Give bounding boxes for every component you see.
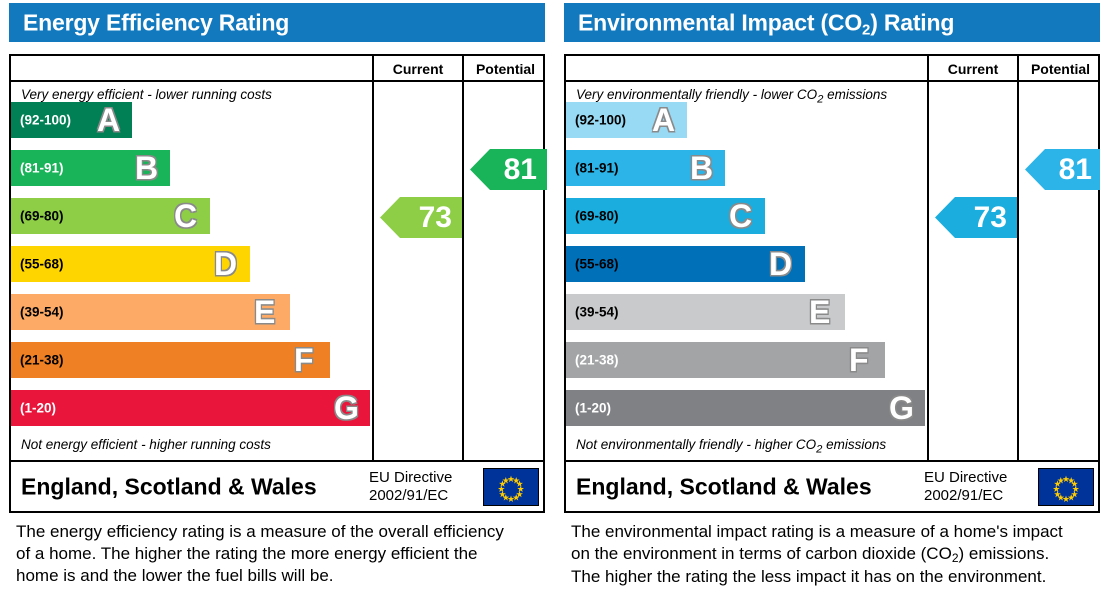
band-letter-f-environmental: F [849,344,869,376]
band-letter-a-environmental: A [652,104,675,136]
footer-directive-line2-environmental: 2002/91/EC [924,487,1007,505]
band-letter-e-energy: E [254,296,275,328]
current-rating-arrow-energy: 73 [380,197,462,238]
eu-flag-icon-environmental [1038,468,1094,506]
band-letter-d-energy: D [214,248,237,280]
footer-country-energy: England, Scotland & Wales [21,473,317,500]
band-range-a-energy: (92-100) [20,113,71,128]
panel-title-bar-environmental: Environmental Impact (CO2) Rating [564,3,1100,42]
band-range-c-environmental: (69-80) [575,209,619,224]
band-range-f-environmental: (21-38) [575,353,619,368]
caption-top-environmental-suffix: emissions [823,87,887,102]
potential-rating-arrow-energy: 81 [470,149,547,190]
column-header-potential-environmental: Potential [1019,56,1100,82]
band-range-a-environmental: (92-100) [575,113,626,128]
potential-rating-value-energy: 81 [504,155,537,185]
energy-rating-table: Current Potential Very energy efficient … [9,54,545,513]
band-bar-g-environmental [566,390,925,426]
caption-bottom-environmental-prefix: Not environmentally friendly - higher CO [576,437,816,452]
band-range-e-energy: (39-54) [20,305,64,320]
page-title-environmental-suffix: ) Rating [870,9,954,35]
band-range-b-energy: (81-91) [20,161,64,176]
band-letter-c-environmental: C [729,200,752,232]
band-letter-c-energy: C [174,200,197,232]
band-bar-g-energy [11,390,370,426]
band-letter-d-environmental: D [769,248,792,280]
page-title-energy: Energy Efficiency Rating [23,9,289,36]
environmental-rating-table: Current Potential Very environmentally f… [564,54,1100,513]
potential-rating-arrow-environmental: 81 [1025,149,1100,190]
band-range-d-energy: (55-68) [20,257,64,272]
footer-directive-line1-energy: EU Directive [369,469,452,487]
caption-bottom-environmental-suffix: emissions [822,437,886,452]
column-header-potential-energy: Potential [464,56,547,82]
column-divider-1-energy [372,56,374,460]
energy-efficiency-panel: Energy Efficiency Rating Current Potenti… [0,0,545,616]
potential-rating-value-environmental: 81 [1059,155,1092,185]
footer-directive-line1-environmental: EU Directive [924,469,1007,487]
footer-directive-line2-energy: 2002/91/EC [369,487,452,505]
band-letter-g-environmental: G [889,392,914,424]
column-divider-1-environmental [927,56,929,460]
environmental-impact-panel: Environmental Impact (CO2) Rating Curren… [555,0,1100,616]
footer-country-environmental: England, Scotland & Wales [576,473,872,500]
footer-directive-environmental: EU Directive 2002/91/EC [924,469,1007,505]
caption-top-environmental-prefix: Very environmentally friendly - lower CO [576,87,817,102]
page-title-environmental: Environmental Impact (CO2) Rating [578,9,954,36]
energy-band-bars: (92-100) A (81-91) B (69-80) C [11,102,372,442]
band-letter-a-energy: A [97,104,120,136]
band-letter-f-energy: F [294,344,314,376]
band-range-c-energy: (69-80) [20,209,64,224]
band-range-d-environmental: (55-68) [575,257,619,272]
footer-environmental: England, Scotland & Wales EU Directive 2… [566,462,1098,511]
band-letter-b-energy: B [135,152,158,184]
page-title-environmental-prefix: Environmental Impact (CO [578,9,862,35]
eu-flag-icon-energy [483,468,539,506]
caption-top-energy: Very energy efficient - lower running co… [21,87,272,102]
band-range-e-environmental: (39-54) [575,305,619,320]
band-range-g-environmental: (1-20) [575,401,611,416]
band-range-g-energy: (1-20) [20,401,56,416]
column-header-current-environmental: Current [929,56,1017,82]
panel-description-energy: The energy efficiency rating is a measur… [16,521,516,587]
band-letter-e-environmental: E [809,296,830,328]
co2-subscript-description: 2 [952,551,959,565]
column-divider-2-energy [462,56,464,460]
footer-directive-energy: EU Directive 2002/91/EC [369,469,452,505]
footer-energy: England, Scotland & Wales EU Directive 2… [11,462,543,511]
panel-description-environmental: The environmental impact rating is a mea… [571,521,1071,588]
current-rating-value-energy: 73 [419,203,452,233]
current-rating-value-environmental: 73 [974,203,1007,233]
caption-bottom-environmental: Not environmentally friendly - higher CO… [576,437,886,456]
band-range-b-environmental: (81-91) [575,161,619,176]
epc-chart-page: Energy Efficiency Rating Current Potenti… [0,0,1100,616]
current-rating-arrow-environmental: 73 [935,197,1017,238]
band-letter-g-energy: G [334,392,359,424]
band-letter-b-environmental: B [690,152,713,184]
co2-subscript-title: 2 [862,21,870,38]
band-range-f-energy: (21-38) [20,353,64,368]
panel-title-bar-energy: Energy Efficiency Rating [9,3,545,42]
column-header-current-energy: Current [374,56,462,82]
environmental-band-bars: (92-100) A (81-91) B (69-80) C [566,102,927,442]
column-divider-2-environmental [1017,56,1019,460]
caption-bottom-energy: Not energy efficient - higher running co… [21,437,271,452]
